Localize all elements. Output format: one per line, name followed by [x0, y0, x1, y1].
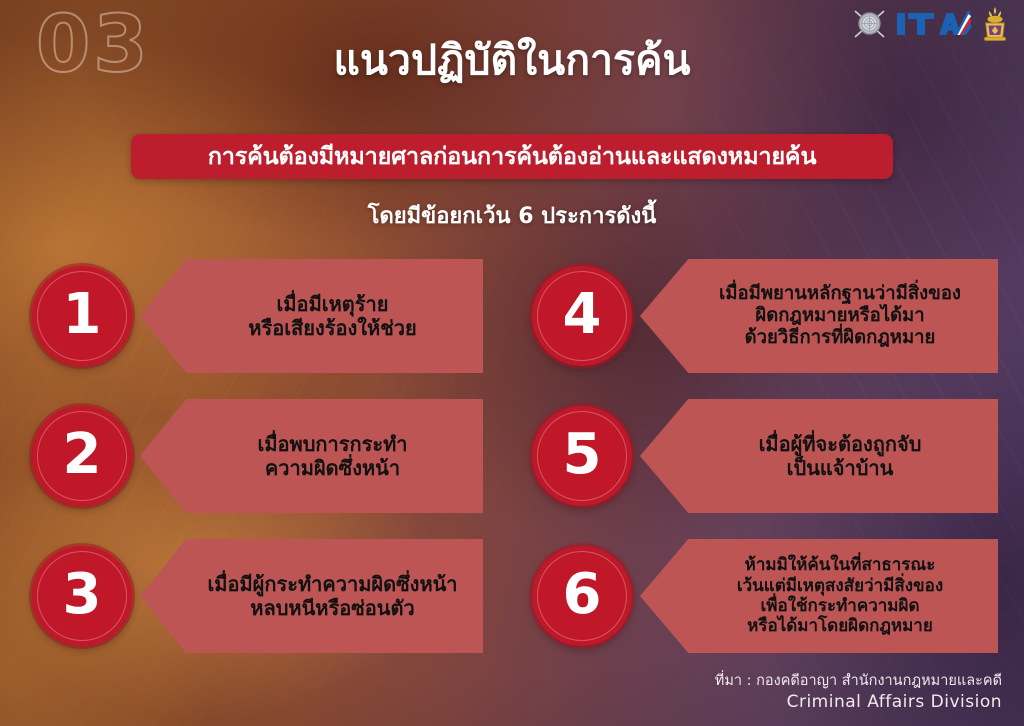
ita-logo — [895, 7, 973, 41]
number-badge: 4 — [528, 256, 636, 376]
number-badge: 6 — [528, 536, 636, 656]
footer-source-english: Criminal Affairs Division — [715, 691, 1002, 714]
badge-circle: 5 — [532, 406, 632, 506]
list-item: เมื่อผู้ที่จะต้องถูกจับ เป็นแจ้าบ้าน 5 — [528, 396, 998, 516]
badge-number: 5 — [563, 427, 602, 483]
number-badge: 3 — [28, 536, 136, 656]
list-item-text: เมื่อมีพยานหลักฐานว่ามีสิ่งของ ผิดกฎหมาย… — [667, 283, 971, 350]
badge-circle: 3 — [32, 546, 132, 646]
footer: ที่มา : กองคดีอาญา สำนักงานกฎหมายและคดี … — [715, 671, 1002, 714]
badge-number: 3 — [63, 567, 102, 623]
number-badge: 2 — [28, 396, 136, 516]
exception-list: เมื่อมีเหตุร้าย หรือเสียงร้องให้ช่วย 1 เ… — [0, 256, 1024, 656]
arrow-banner: เมื่อมีพยานหลักฐานว่ามีสิ่งของ ผิดกฎหมาย… — [640, 259, 998, 373]
list-item: เมื่อมีผู้กระทำความผิดซึ่งหน้า หลบหนีหรื… — [28, 536, 483, 656]
silver-medallion-logo — [852, 7, 888, 41]
list-item: เมื่อมีพยานหลักฐานว่ามีสิ่งของ ผิดกฎหมาย… — [528, 256, 998, 376]
badge-number: 1 — [63, 287, 102, 343]
infographic-poster: 03 — [0, 0, 1024, 726]
number-badge: 1 — [28, 256, 136, 376]
arrow-banner: เมื่อมีผู้กระทำความผิดซึ่งหน้า หลบหนีหรื… — [140, 539, 483, 653]
arrow-banner: เมื่อมีเหตุร้าย หรือเสียงร้องให้ช่วย — [140, 259, 483, 373]
list-item-text: ห้ามมิให้ค้นในที่สาธารณะ เว้นแต่มีเหตุสง… — [685, 555, 953, 637]
subtitle: โดยมีข้อยกเว้น 6 ประการดังนี้ — [0, 198, 1024, 233]
arrow-banner: เมื่อผู้ที่จะต้องถูกจับ เป็นแจ้าบ้าน — [640, 399, 998, 513]
badge-circle: 4 — [532, 266, 632, 366]
list-item-text: เมื่อผู้ที่จะต้องถูกจับ เป็นแจ้าบ้าน — [707, 432, 932, 481]
thai-royal-emblem-logo — [980, 6, 1010, 42]
arrow-banner: ห้ามมิให้ค้นในที่สาธารณะ เว้นแต่มีเหตุสง… — [640, 539, 998, 653]
badge-circle: 6 — [532, 546, 632, 646]
list-item-text: เมื่อมีผู้กระทำความผิดซึ่งหน้า หลบหนีหรื… — [155, 572, 467, 621]
list-item-text: เมื่อมีเหตุร้าย หรือเสียงร้องให้ช่วย — [196, 292, 426, 341]
list-item: ห้ามมิให้ค้นในที่สาธารณะ เว้นแต่มีเหตุสง… — [528, 536, 998, 656]
list-item-text: เมื่อพบการกระทำ ความผิดซึ่งหน้า — [206, 432, 418, 481]
badge-circle: 2 — [32, 406, 132, 506]
list-item: เมื่อมีเหตุร้าย หรือเสียงร้องให้ช่วย 1 — [28, 256, 483, 376]
page-title: แนวปฏิบัติในการค้น — [0, 38, 1024, 83]
footer-source-thai: ที่มา : กองคดีอาญา สำนักงานกฎหมายและคดี — [715, 671, 1002, 691]
number-badge: 5 — [528, 396, 636, 516]
rule-banner: การค้นต้องมีหมายศาลก่อนการค้นต้องอ่านและ… — [131, 134, 893, 179]
arrow-banner: เมื่อพบการกระทำ ความผิดซึ่งหน้า — [140, 399, 483, 513]
badge-number: 4 — [563, 287, 602, 343]
rule-banner-text: การค้นต้องมีหมายศาลก่อนการค้นต้องอ่านและ… — [208, 138, 817, 175]
list-item: เมื่อพบการกระทำ ความผิดซึ่งหน้า 2 — [28, 396, 483, 516]
badge-circle: 1 — [32, 266, 132, 366]
badge-number: 6 — [563, 567, 602, 623]
badge-number: 2 — [63, 427, 102, 483]
